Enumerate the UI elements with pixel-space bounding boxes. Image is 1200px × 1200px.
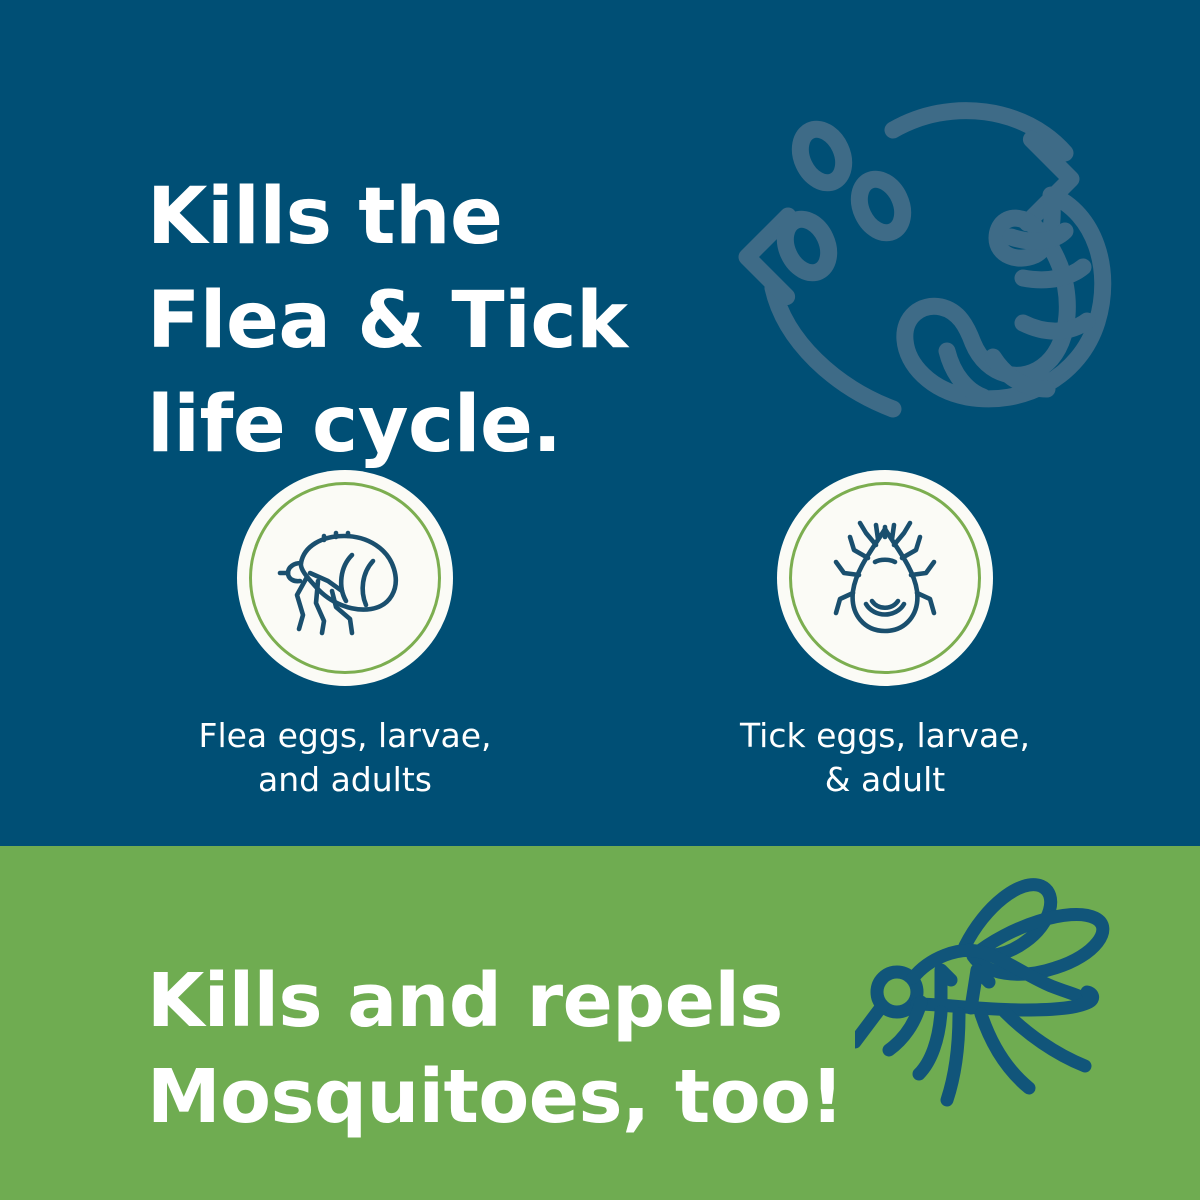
- pest-badge-row: Flea eggs, larvae, and adults: [0, 470, 1200, 810]
- tick-leg-r4: [917, 593, 934, 613]
- tick-leg-l2: [850, 537, 868, 558]
- egg-1: [792, 122, 852, 190]
- badge-tick-caption: Tick eggs, larvae, & adult: [645, 714, 1125, 802]
- tick-leg-r3: [911, 562, 934, 575]
- tick-mouth-inner: [872, 601, 898, 608]
- tick-leg-r2: [902, 537, 920, 558]
- tick-leg-l3: [836, 562, 859, 575]
- mosquito-icon: [855, 864, 1185, 1124]
- mosquito-leg-2: [919, 1012, 941, 1074]
- egg-3: [777, 212, 837, 280]
- top-blue-panel: Kills the Flea & Tick life cycle.: [0, 0, 1200, 846]
- badge-flea: Flea eggs, larvae, and adults: [105, 470, 585, 802]
- tick-icon: [810, 503, 960, 653]
- flea-badge-circle: [237, 470, 453, 686]
- egg-2: [851, 172, 911, 240]
- tick-leg-r1: [894, 523, 910, 545]
- promo-poster: Kills the Flea & Tick life cycle.: [0, 0, 1200, 1200]
- flea-stripe-1: [341, 555, 352, 601]
- mosquito-leg-5: [1005, 1012, 1085, 1066]
- badge-flea-caption: Flea eggs, larvae, and adults: [105, 714, 585, 802]
- mosquito-proboscis: [855, 1006, 882, 1042]
- tick-scutum: [875, 560, 895, 562]
- mosquito-leg-3: [947, 1014, 959, 1100]
- tick-badge-circle: [777, 470, 993, 686]
- bottom-green-panel: Kills and repels Mosquitoes, too!: [0, 846, 1200, 1200]
- cycle-arrow-bottom-path: [773, 288, 893, 409]
- tick-palp-left: [876, 525, 878, 539]
- tick-icon-svg: [810, 503, 960, 653]
- flea-stripe-2: [363, 561, 373, 605]
- tick-palp-right: [892, 525, 894, 539]
- flea-icon-svg: [270, 503, 420, 653]
- larva-segment-3: [1023, 321, 1087, 331]
- badge-tick: Tick eggs, larvae, & adult: [645, 470, 1125, 802]
- life-cycle-illustration-svg: [735, 45, 1130, 440]
- tick-leg-l1: [860, 523, 876, 545]
- flea-tick-life-cycle-icon: [735, 45, 1130, 440]
- page-title: Kills the Flea & Tick life cycle.: [147, 166, 767, 477]
- mosquito-wing-lower: [973, 914, 1103, 974]
- flea-leg-1: [297, 577, 307, 629]
- flea-icon: [270, 503, 420, 653]
- mosquito-icon-svg: [855, 864, 1185, 1124]
- subhead-title: Kills and repels Mosquitoes, too!: [147, 954, 907, 1145]
- tick-leg-l4: [836, 593, 853, 613]
